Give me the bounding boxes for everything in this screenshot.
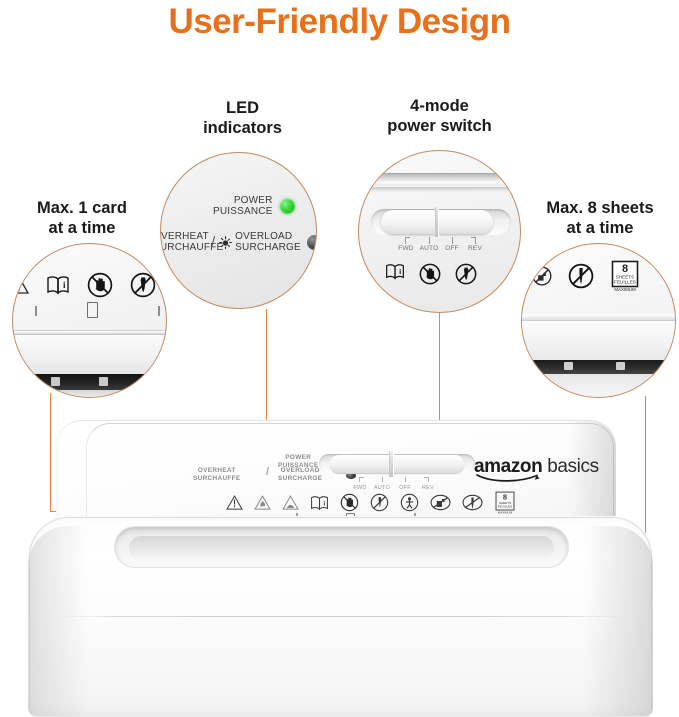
- callout-label-card: Max. 1 card at a time: [2, 198, 162, 238]
- led-row-power: POWER PUISSANCE: [213, 195, 295, 217]
- sheet-capacity-icon: 8 SHEETS FEUILLES MAXIMUM: [610, 260, 640, 292]
- panel-tick-right: [158, 306, 160, 316]
- svg-text:FEUILLES: FEUILLES: [614, 280, 636, 285]
- machine-body-lower: [12, 390, 167, 397]
- sheet-capacity-icon: 8 SHEETS FEUILLES MAXIMUM: [494, 491, 516, 514]
- panel-label-overheat: OVERHEAT SURCHAUFFE: [193, 467, 241, 483]
- svg-text:FEUILLES: FEUILLES: [498, 505, 513, 509]
- bin-seam-line: [44, 616, 637, 617]
- sheets-circle-icon-row: 8 SHEETS FEUILLES MAXIMUM: [532, 260, 640, 292]
- svg-text:i: i: [323, 500, 325, 507]
- read-manual-icon: i: [385, 263, 405, 285]
- machine-top-lip: [358, 173, 521, 186]
- callout-label-switch: 4-mode power switch: [352, 96, 527, 136]
- svg-text:i: i: [399, 267, 401, 276]
- card-feed-slot: [12, 374, 167, 390]
- read-manual-icon: i: [46, 275, 70, 295]
- no-tie-icon: [130, 272, 156, 298]
- callout-label-sheets: Max. 8 sheets at a time: [520, 198, 679, 238]
- machine-body-upper: [521, 321, 676, 363]
- svg-text:MAXIMUM: MAXIMUM: [614, 287, 636, 292]
- zoom-circle-led-indicators: POWER PUISSANCE OVERHEAT SURCHAUFFE / OV…: [160, 152, 317, 309]
- no-tie-icon: [455, 263, 477, 285]
- callout-label-led: LED indicators: [165, 98, 320, 138]
- switch-label-rev: REV: [468, 245, 482, 252]
- svg-text:MAXIMUM: MAXIMUM: [498, 510, 513, 514]
- bin-shading-right: [583, 526, 653, 716]
- no-hand-icon: [419, 263, 441, 285]
- panel-tick-left: [35, 306, 37, 316]
- switch-label-fwd: FWD: [398, 245, 413, 252]
- switch-scale-ticks: [403, 237, 479, 245]
- power-switch-scale: FWD AUTO OFF REV: [403, 237, 479, 255]
- bin-shading-left: [28, 526, 88, 716]
- page-title: User-Friendly Design: [0, 2, 679, 42]
- led-label-overheat: OVERHEAT SURCHAUFFE: [160, 231, 207, 253]
- power-switch-knob[interactable]: [330, 455, 464, 473]
- warning-triangle-icon: [226, 495, 243, 510]
- machine-body-upper: [12, 335, 167, 377]
- overload-symbol-icon: [219, 236, 232, 249]
- panel-label-separator: /: [266, 466, 269, 480]
- warning-hair-triangle-icon: [282, 495, 299, 510]
- bin-handle-recess: [129, 536, 554, 560]
- zoom-circle-card-slot: i: [12, 243, 167, 398]
- no-children-icon: [400, 493, 419, 512]
- shredder-waste-bin: [28, 516, 653, 717]
- switch-label-off: OFF: [445, 245, 459, 252]
- machine-lip-line: [521, 314, 676, 321]
- paper-feed-slot: [521, 360, 676, 374]
- power-switch-notch: [389, 451, 394, 477]
- no-necklace-icon: [462, 494, 483, 511]
- led-label-power: POWER PUISSANCE: [213, 195, 273, 217]
- no-necklace-icon: [568, 263, 594, 289]
- read-manual-icon: i: [310, 495, 329, 511]
- no-spray-icon: [532, 265, 552, 287]
- switch-label-auto: AUTO: [420, 245, 439, 252]
- no-hand-icon: [87, 272, 113, 298]
- no-spray-icon: [430, 494, 451, 511]
- no-hand-icon: [340, 493, 359, 512]
- led-label-separator: /: [211, 234, 215, 251]
- panel-label-overload: OVERLOAD SURCHARGE: [278, 467, 322, 483]
- switch-scale-labels: FWD AUTO OFF REV: [403, 245, 479, 255]
- panel-tick-mid: [87, 302, 98, 318]
- infographic-canvas: User-Friendly Design Max. 1 card at a ti…: [0, 0, 679, 717]
- svg-text:i: i: [63, 280, 66, 290]
- led-row-overload: OVERHEAT SURCHAUFFE / OVERLOAD SURCHARGE: [160, 231, 317, 253]
- zoom-circle-paper-slot: 8 SHEETS FEUILLES MAXIMUM: [521, 243, 676, 398]
- power-led-indicator: [280, 199, 295, 214]
- svg-text:8: 8: [622, 263, 628, 275]
- machine-top-lip-secondary: [358, 187, 521, 192]
- zoom-circle-power-switch: FWD AUTO OFF REV i: [358, 150, 521, 313]
- bin-handle[interactable]: [114, 526, 569, 568]
- paper-shredder-product: OVERHEAT SURCHAUFFE / POWER PUISSANCE OV…: [28, 420, 653, 717]
- power-switch-notch: [435, 207, 439, 237]
- warning-triangle-icon: [12, 276, 29, 294]
- overload-led-indicator: [307, 235, 317, 250]
- led-label-overload: OVERLOAD SURCHARGE: [235, 231, 301, 253]
- safety-icon-row: i: [226, 491, 516, 514]
- switch-circle-icon-row: i: [385, 263, 477, 285]
- amazon-smile-icon: [475, 471, 553, 483]
- card-circle-icon-row: i: [12, 272, 167, 298]
- warning-hand-triangle-icon: [254, 495, 271, 510]
- switch-scale-ticks: [357, 477, 431, 485]
- no-tie-icon: [370, 493, 389, 512]
- machine-body-lower: [521, 374, 676, 397]
